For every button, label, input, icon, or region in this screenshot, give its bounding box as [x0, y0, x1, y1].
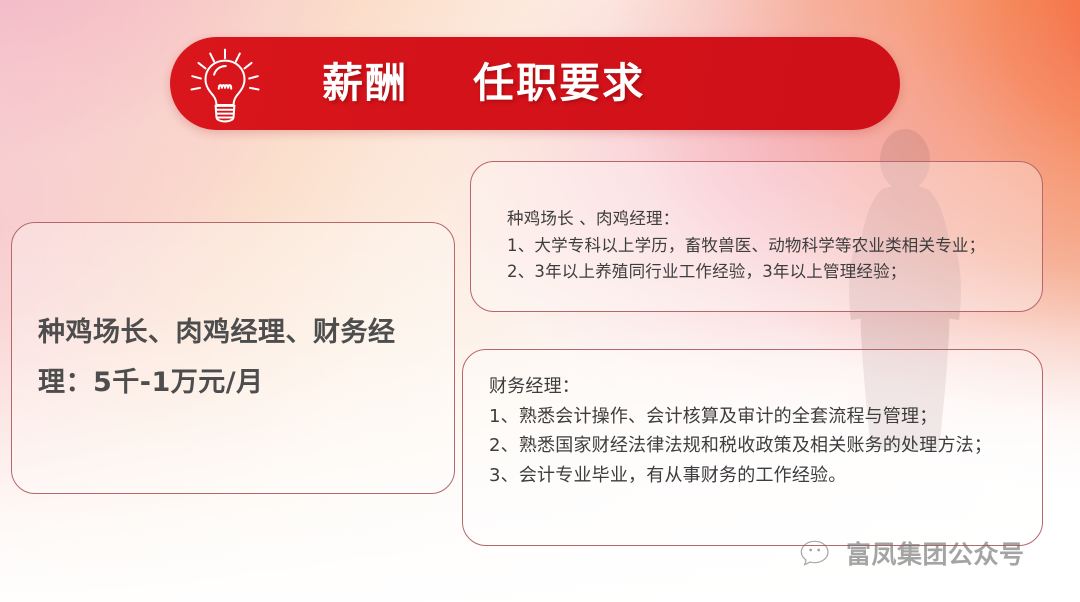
requirement-text-breeder: 种鸡场长 、肉鸡经理： 1、大学专科以上学历，畜牧兽医、动物科学等农业类相关专业…: [507, 206, 1016, 286]
lightbulb-icon: [186, 45, 264, 123]
slide-canvas: 薪酬 任职要求 种鸡场长、肉鸡经理、财务经理：5千-1万元/月 种鸡场长 、肉鸡…: [0, 0, 1080, 602]
requirement-text-finance: 财务经理： 1、熟悉会计操作、会计核算及审计的全套流程与管理； 2、熟悉国家财经…: [489, 372, 1018, 490]
salary-card: 种鸡场长、肉鸡经理、财务经理：5千-1万元/月: [11, 222, 455, 494]
salary-text: 种鸡场长、肉鸡经理、财务经理：5千-1万元/月: [38, 308, 428, 408]
requirement-card-breeder: 种鸡场长 、肉鸡经理： 1、大学专科以上学历，畜牧兽医、动物科学等农业类相关专业…: [470, 161, 1043, 312]
requirement-card-finance: 财务经理： 1、熟悉会计操作、会计核算及审计的全套流程与管理； 2、熟悉国家财经…: [462, 349, 1043, 546]
page-title: 薪酬 任职要求: [322, 63, 645, 104]
header-banner: 薪酬 任职要求: [170, 37, 900, 130]
